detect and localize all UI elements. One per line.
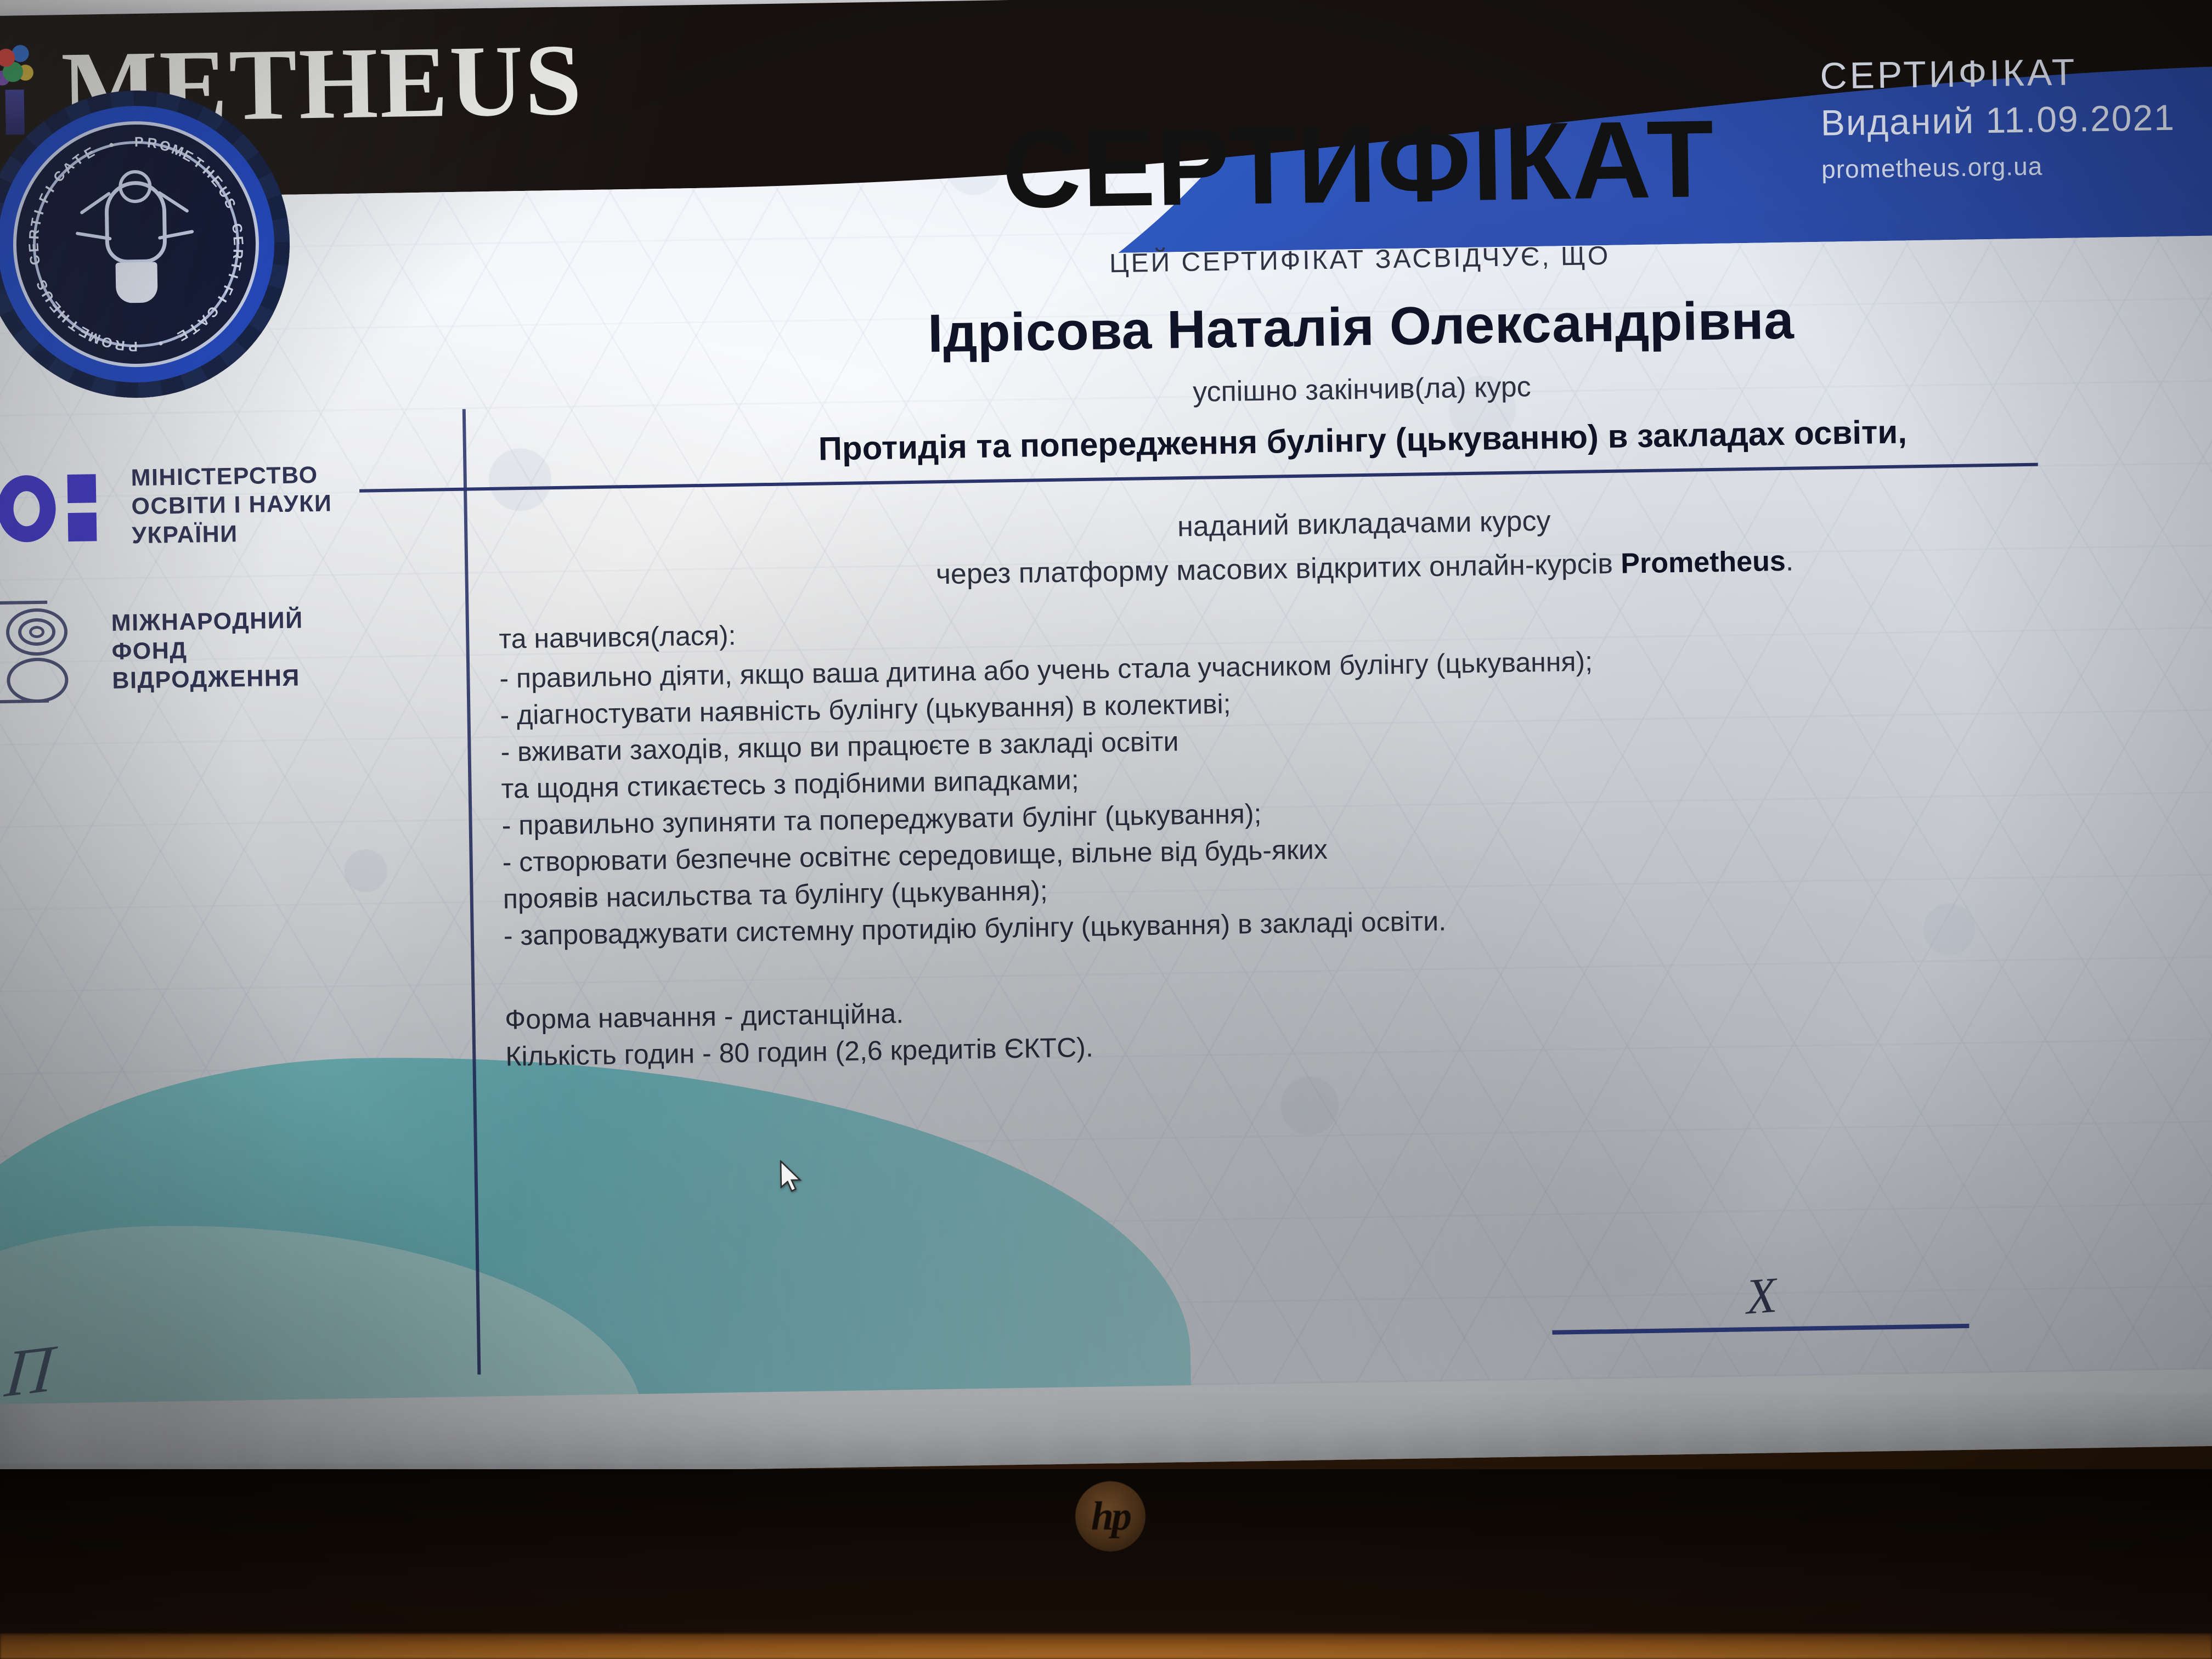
recipient-name: Ідрісова Наталія Олександрівна xyxy=(494,282,2212,371)
prometheus-seal-badge: PROMETHEUS CERTIFICATE • PROMETHEUS CERT… xyxy=(0,88,292,400)
attest-line: ЦЕЙ СЕРТИФІКАТ ЗАСВІДЧУЄ, ЩО xyxy=(493,231,2212,289)
partner-ministry-label: МІНІСТЕРСТВО ОСВІТИ І НАУКИ УКРАЇНИ xyxy=(131,461,332,550)
laptop-bezel: hp xyxy=(0,1469,2212,1634)
certificate-body: СЕРТИФІКАТ ЦЕЙ СЕРТИФІКАТ ЗАСВІДЧУЄ, ЩО … xyxy=(490,63,2212,1075)
platform-line-prefix: через платформу масових відкритих онлайн… xyxy=(935,548,1621,591)
signature-left: П xyxy=(2,1330,57,1404)
platform-name: Prometheus xyxy=(1621,545,1786,580)
ministry-line-1: МІНІСТЕРСТВО xyxy=(131,461,332,493)
ministry-line-2: ОСВІТИ І НАУКИ xyxy=(131,489,332,521)
mouse-cursor-icon xyxy=(778,1160,803,1194)
irf-logo-icon xyxy=(0,600,94,706)
partner-ministry: МІНІСТЕРСТВО ОСВІТИ І НАУКИ УКРАЇНИ xyxy=(0,459,454,552)
completed-line: успішно закінчив(ла) курс xyxy=(495,359,2212,420)
partner-foundation: МІЖНАРОДНИЙ ФОНД ВІДРОДЖЕННЯ xyxy=(0,594,456,706)
mon-logo-icon xyxy=(0,466,114,550)
certificate-document: R METHEUS СЕРТИФІКАТ Виданий 11.09.2021 … xyxy=(0,0,2212,1404)
laptop-photo: вслух ⌄ Нарисовать ⌄ Выд xyxy=(0,0,2212,1659)
laptop-screen: вслух ⌄ Нарисовать ⌄ Выд xyxy=(0,0,2212,1481)
foundation-line-2: ФОНД xyxy=(111,634,304,666)
ministry-line-3: УКРАЇНИ xyxy=(132,518,333,550)
partner-foundation-label: МІЖНАРОДНИЙ ФОНД ВІДРОДЖЕННЯ xyxy=(111,606,304,695)
course-title: Протидія та попередження булінгу (цькува… xyxy=(496,408,2212,473)
hp-logo: hp xyxy=(1075,1481,1145,1551)
foundation-line-3: ВІДРОДЖЕННЯ xyxy=(112,663,304,695)
platform-line-suffix: . xyxy=(1785,545,1793,577)
learning-outcomes-list: - правильно діяти, якщо ваша дитина або … xyxy=(499,633,2212,955)
signature-right: Х xyxy=(1551,1263,1970,1335)
page-title: СЕРТИФІКАТ xyxy=(491,96,2212,233)
desk-surface xyxy=(0,1634,2212,1659)
left-column: PROMETHEUS CERTIFICATE • PROMETHEUS CERT… xyxy=(0,86,456,706)
foundation-line-1: МІЖНАРОДНИЙ xyxy=(111,606,303,637)
